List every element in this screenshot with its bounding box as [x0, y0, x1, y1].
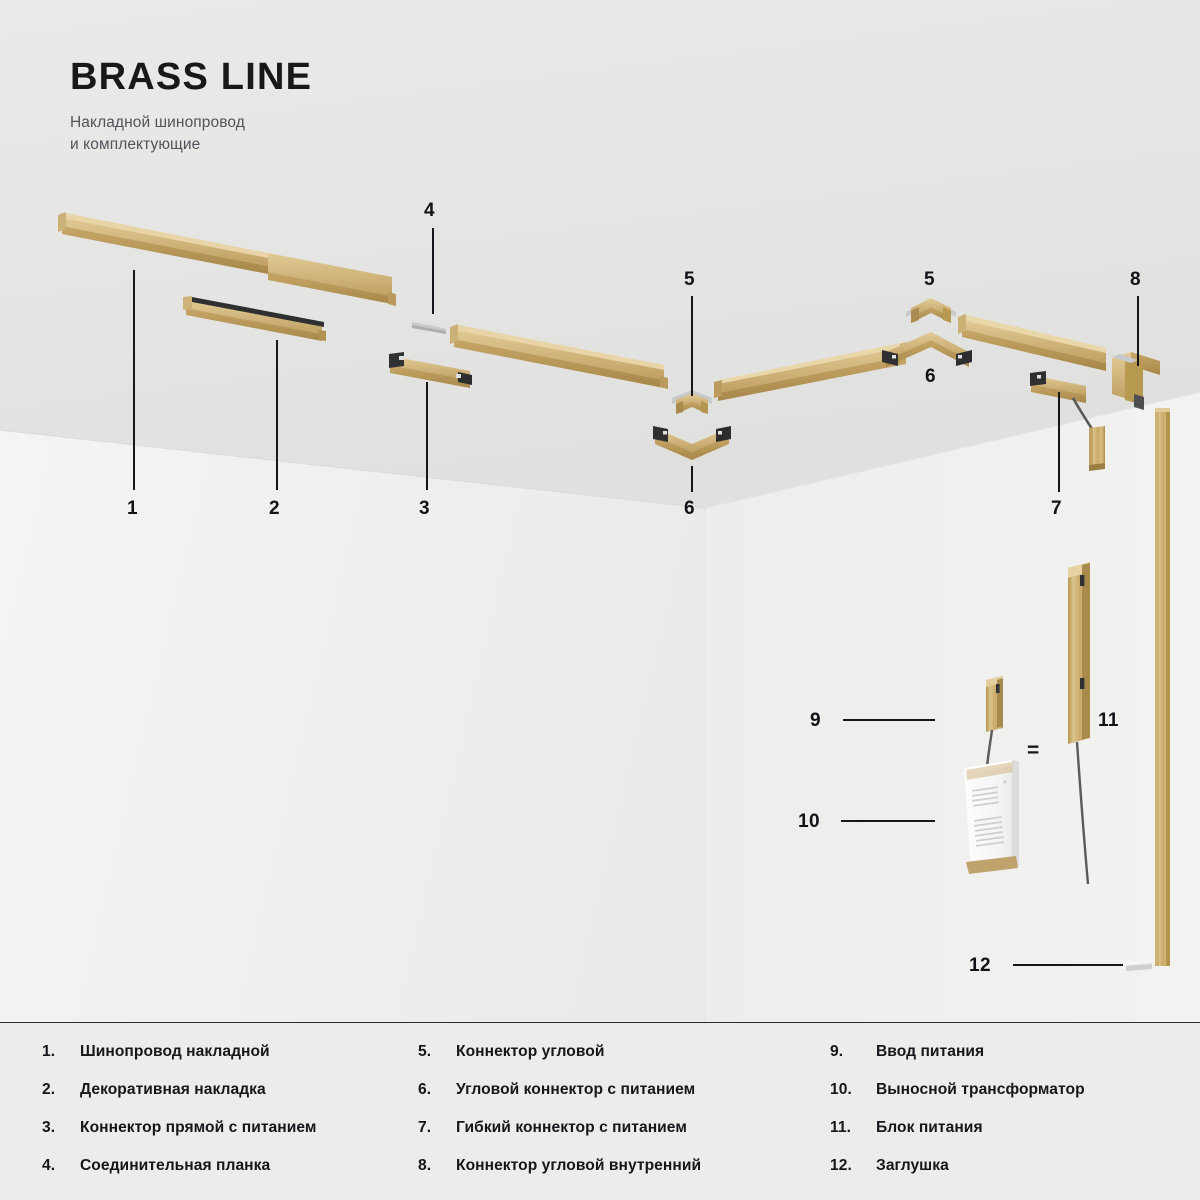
leader-line-9 — [843, 719, 935, 721]
legend-label: Гибкий коннектор с питанием — [456, 1119, 687, 1137]
legend-item: 6. Угловой коннектор с питанием — [418, 1081, 820, 1119]
legend-index: 6. — [418, 1081, 456, 1099]
callout-number-12: 12 — [969, 955, 991, 977]
callout-number-5-right: 5 — [924, 269, 935, 291]
callout-number-8: 8 — [1130, 269, 1141, 291]
legend-index: 10. — [830, 1081, 876, 1099]
legend-label: Ввод питания — [876, 1043, 984, 1061]
legend-index: 3. — [42, 1119, 80, 1137]
legend-label: Блок питания — [876, 1119, 983, 1137]
leader-line-4 — [432, 228, 434, 314]
callout-number-1: 1 — [127, 498, 138, 520]
legend-item: 11. Блок питания — [830, 1119, 1200, 1157]
legend-item: 2. Декоративная накладка — [42, 1081, 408, 1119]
wall-left — [0, 430, 705, 1022]
legend-item: 3. Коннектор прямой с питанием — [42, 1119, 408, 1157]
callout-number-10: 10 — [798, 811, 820, 833]
subtitle-line-2: и комплектующие — [70, 134, 312, 156]
legend-index: 8. — [418, 1157, 456, 1175]
legend-item: 9. Ввод питания — [830, 1043, 1200, 1081]
callout-number-4: 4 — [424, 200, 435, 222]
legend-item: 12. Заглушка — [830, 1157, 1200, 1195]
legend-item: 8. Коннектор угловой внутренний — [418, 1157, 820, 1195]
leader-line-1 — [133, 270, 135, 490]
header-block: BRASS LINE Накладной шинопровод и компле… — [70, 58, 312, 156]
subtitle-line-1: Накладной шинопровод — [70, 112, 312, 134]
legend-label: Шинопровод накладной — [80, 1043, 270, 1061]
callout-number-7: 7 — [1051, 498, 1062, 520]
callout-number-6-right: 6 — [925, 366, 936, 388]
leader-line-6-left — [691, 466, 693, 492]
product-diagram: BRASS LINE Накладной шинопровод и компле… — [0, 0, 1200, 1200]
legend-column-3: 9. Ввод питания 10. Выносной трансформат… — [820, 1023, 1200, 1200]
legend-index: 7. — [418, 1119, 456, 1137]
callout-number-3: 3 — [419, 498, 430, 520]
callout-number-9: 9 — [810, 710, 821, 732]
legend-item: 7. Гибкий коннектор с питанием — [418, 1119, 820, 1157]
legend-index: 4. — [42, 1157, 80, 1175]
page-title: BRASS LINE — [70, 58, 312, 96]
legend-label: Угловой коннектор с питанием — [456, 1081, 695, 1099]
page-subtitle: Накладной шинопровод и комплектующие — [70, 112, 312, 156]
part-vertical-track-rail — [1155, 408, 1170, 966]
legend-index: 12. — [830, 1157, 876, 1175]
legend-item: 10. Выносной трансформатор — [830, 1081, 1200, 1119]
legend-column-2: 5. Коннектор угловой 6. Угловой коннекто… — [408, 1023, 820, 1200]
legend-label: Коннектор прямой с питанием — [80, 1119, 316, 1137]
legend-label: Коннектор угловой — [456, 1043, 605, 1061]
callout-number-6-left: 6 — [684, 498, 695, 520]
leader-line-2 — [276, 340, 278, 490]
legend-label: Коннектор угловой внутренний — [456, 1157, 701, 1175]
callout-number-2: 2 — [269, 498, 280, 520]
leader-line-8 — [1137, 296, 1139, 366]
callout-number-5-left: 5 — [684, 269, 695, 291]
leader-line-3 — [426, 382, 428, 490]
legend-label: Заглушка — [876, 1157, 949, 1175]
legend-item: 1. Шинопровод накладной — [42, 1043, 408, 1081]
leader-line-7 — [1058, 392, 1060, 492]
legend-item: 5. Коннектор угловой — [418, 1043, 820, 1081]
legend-index: 11. — [830, 1119, 876, 1137]
equals-sign: = — [1027, 739, 1039, 763]
legend-index: 5. — [418, 1043, 456, 1061]
legend-column-1: 1. Шинопровод накладной 2. Декоративная … — [0, 1023, 408, 1200]
callout-number-11: 11 — [1098, 710, 1119, 732]
legend-item: 4. Соединительная планка — [42, 1157, 408, 1195]
legend-index: 2. — [42, 1081, 80, 1099]
legend-panel: 1. Шинопровод накладной 2. Декоративная … — [0, 1022, 1200, 1200]
legend-label: Выносной трансформатор — [876, 1081, 1085, 1099]
legend-index: 1. — [42, 1043, 80, 1061]
legend-index: 9. — [830, 1043, 876, 1061]
leader-line-10 — [841, 820, 935, 822]
legend-label: Соединительная планка — [80, 1157, 270, 1175]
leader-line-5-left — [691, 296, 693, 396]
part-remote-transformer — [964, 760, 1019, 874]
leader-line-12 — [1013, 964, 1123, 966]
legend-label: Декоративная накладка — [80, 1081, 266, 1099]
